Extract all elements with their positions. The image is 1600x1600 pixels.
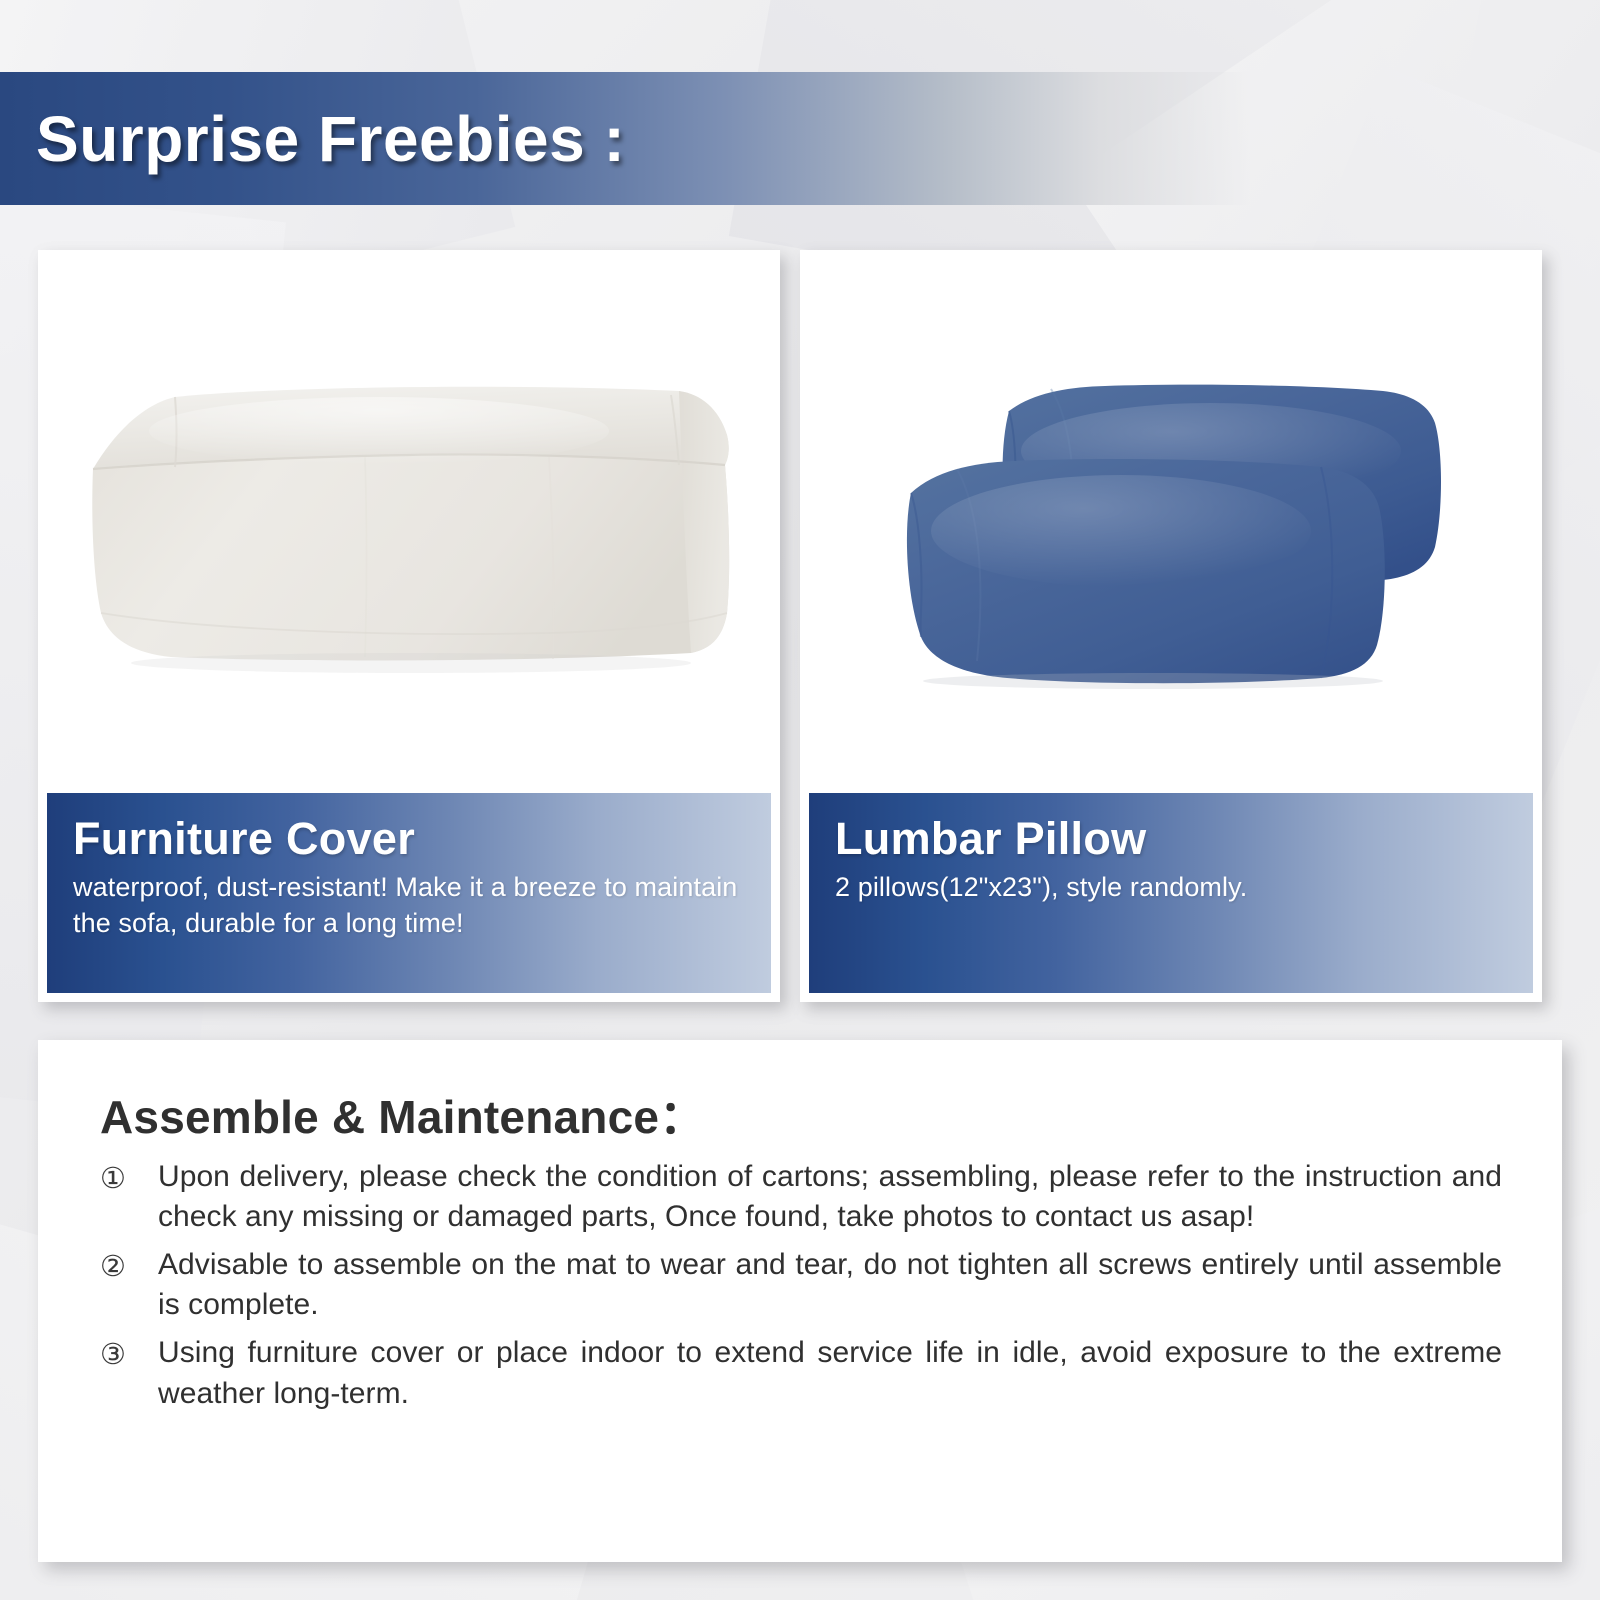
- instruction-text: Advisable to assemble on the mat to wear…: [158, 1245, 1502, 1325]
- instruction-marker: ③: [100, 1333, 158, 1374]
- product-title: Lumbar Pillow: [835, 815, 1507, 862]
- instruction-text: Using furniture cover or place indoor to…: [158, 1333, 1502, 1413]
- instruction-marker: ①: [100, 1157, 158, 1198]
- page-title: Surprise Freebies :: [36, 107, 625, 171]
- product-caption-furniture-cover: Furniture Cover waterproof, dust-resista…: [47, 793, 771, 993]
- product-image-furniture-cover: [47, 259, 771, 793]
- product-image-lumbar-pillow: [809, 259, 1533, 793]
- instructions-heading: Assemble & Maintenance：: [100, 1092, 1502, 1143]
- product-description: 2 pillows(12"x23"), style randomly.: [835, 870, 1507, 906]
- header-banner: Surprise Freebies :: [0, 72, 1250, 205]
- instruction-text: Upon delivery, please check the conditio…: [158, 1157, 1502, 1237]
- product-caption-lumbar-pillow: Lumbar Pillow 2 pillows(12"x23"), style …: [809, 793, 1533, 993]
- product-card-lumbar-pillow: Lumbar Pillow 2 pillows(12"x23"), style …: [800, 250, 1542, 1002]
- instruction-item: ① Upon delivery, please check the condit…: [100, 1157, 1502, 1237]
- instruction-item: ③ Using furniture cover or place indoor …: [100, 1333, 1502, 1413]
- instruction-marker: ②: [100, 1245, 158, 1286]
- instruction-item: ② Advisable to assemble on the mat to we…: [100, 1245, 1502, 1325]
- product-card-furniture-cover: Furniture Cover waterproof, dust-resista…: [38, 250, 780, 1002]
- product-title: Furniture Cover: [73, 815, 745, 862]
- lumbar-pillow-icon: [891, 361, 1451, 691]
- product-description: waterproof, dust-resistant! Make it a br…: [73, 870, 745, 941]
- instructions-panel: Assemble & Maintenance： ① Upon delivery,…: [38, 1040, 1562, 1562]
- furniture-cover-icon: [79, 361, 739, 691]
